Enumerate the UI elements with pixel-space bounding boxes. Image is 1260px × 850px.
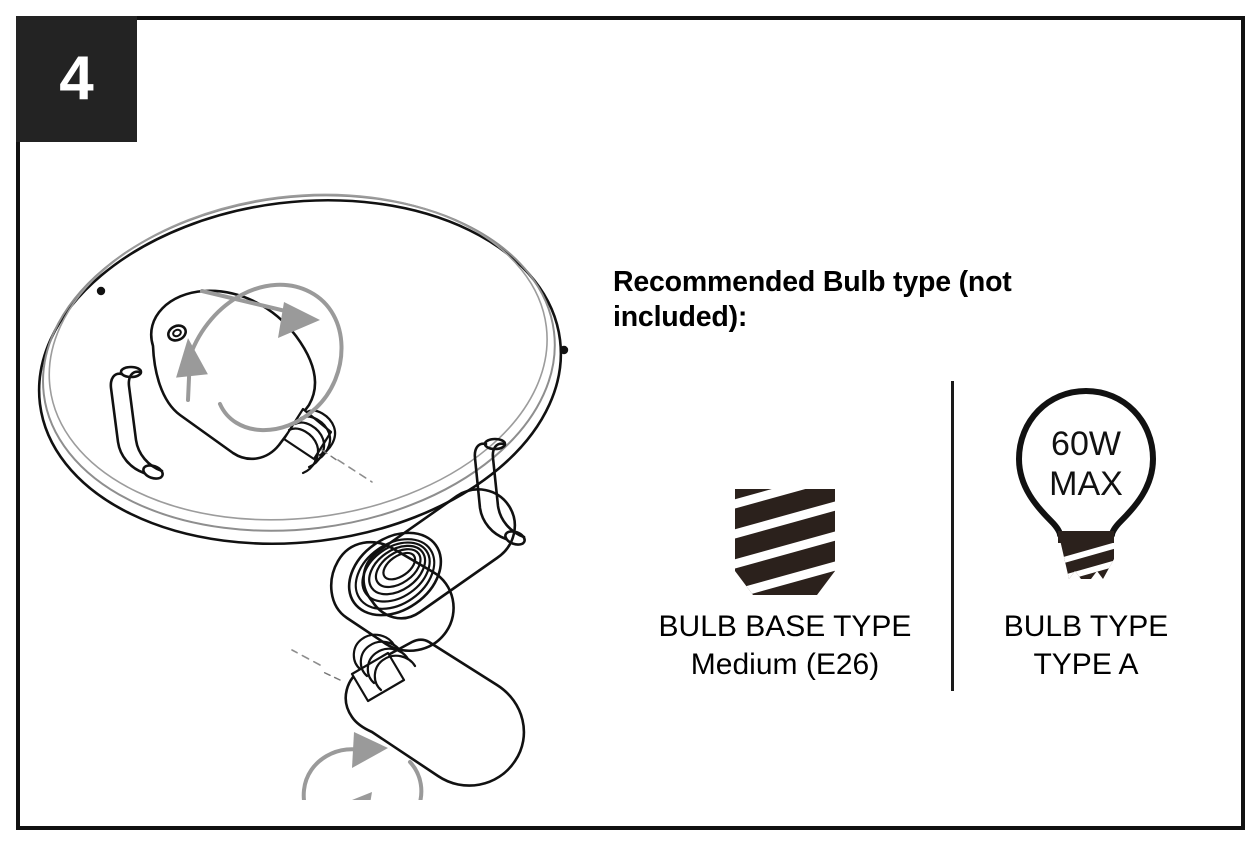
rotation-arrow-lower-head: [352, 732, 388, 768]
bulb-wattage-line2: MAX: [1049, 465, 1123, 503]
bulb-base-art: [620, 373, 950, 608]
bulb-wattage-line1: 60W: [1051, 425, 1121, 463]
bulb-spec-row: BULB BASE TYPE Medium (E26): [610, 373, 1210, 703]
instruction-sheet-page: 4: [0, 0, 1260, 850]
rotation-arrow-lower-head2: [332, 792, 372, 800]
bulb-type-art: 60W MAX: [962, 373, 1210, 608]
bulb-type-value: TYPE A: [962, 646, 1210, 684]
spec-divider: [951, 381, 954, 691]
spec-bulb-base-type: BULB BASE TYPE Medium (E26): [620, 373, 950, 703]
bulb-base-type-value: Medium (E26): [620, 646, 950, 684]
step-number: 4: [59, 48, 93, 110]
bulb-info-panel: Recommended Bulb type (not included):: [610, 265, 1210, 715]
rotation-arrow-upper-head: [172, 336, 208, 377]
step-number-badge: 4: [16, 16, 137, 142]
socket-arm-right: [475, 439, 527, 547]
socket-arm-left: [111, 367, 165, 481]
socket-empty: [333, 489, 514, 632]
bulb-base-type-title: BULB BASE TYPE: [620, 608, 950, 646]
fixture-illustration: [20, 160, 620, 800]
spec-bulb-type: 60W MAX BULB TYPE TYP: [962, 373, 1210, 703]
ceiling-plate: [20, 167, 581, 573]
bulb-screw-base-e26-icon: [725, 483, 845, 608]
bulb-type-title: BULB TYPE: [962, 608, 1210, 646]
bulb-recommendation-heading: Recommended Bulb type (not included):: [613, 265, 1138, 335]
rotation-arrow-upper-head2: [278, 302, 320, 338]
light-bulb-type-a-icon: 60W MAX: [1011, 383, 1161, 608]
